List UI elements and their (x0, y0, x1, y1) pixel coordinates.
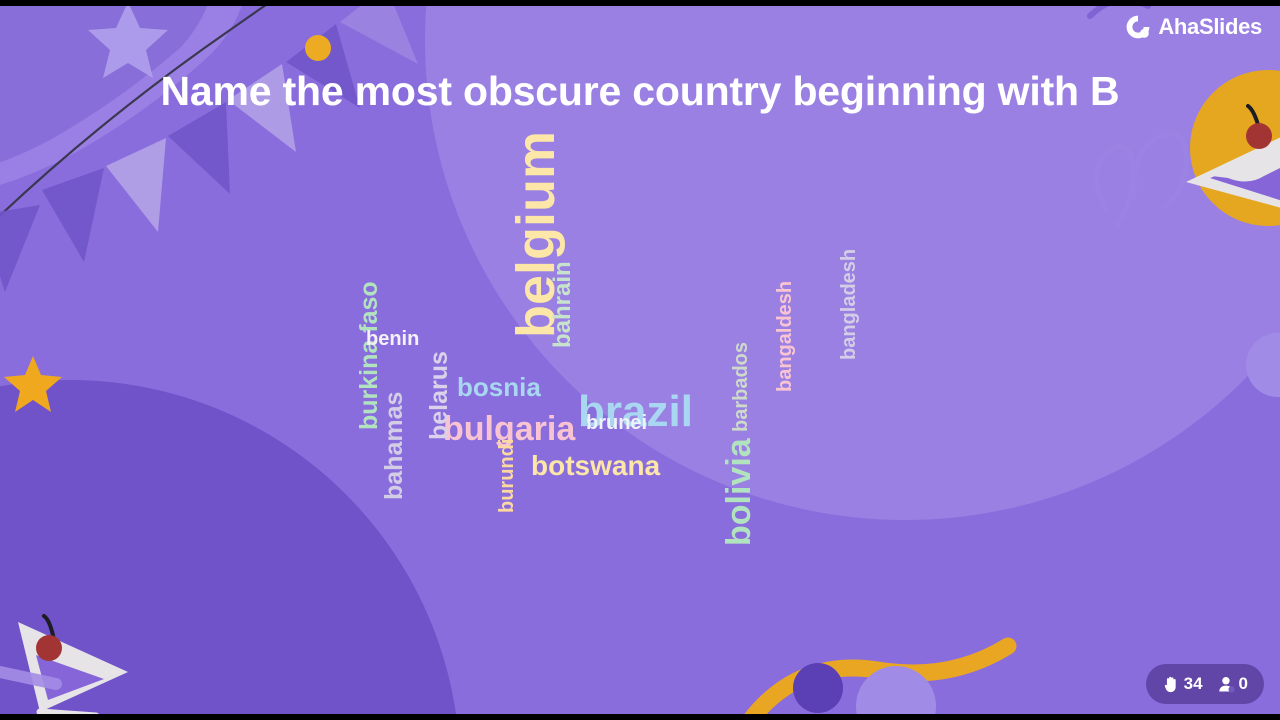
status-badge: 34 0 (1146, 664, 1264, 704)
word-cloud-item: barbados (731, 342, 751, 432)
ahaslides-logo: AhaSlides (1125, 14, 1262, 40)
page-title: Name the most obscure country beginning … (0, 68, 1280, 115)
letterbox-bottom (0, 714, 1280, 720)
word-cloud-item: bangaldesh (775, 281, 795, 392)
word-cloud-item: bahamas (382, 392, 407, 500)
word-cloud-item: brunei (586, 413, 647, 433)
word-cloud-item: bahrain (551, 261, 575, 348)
person-icon (1217, 675, 1236, 694)
participants-count: 0 (1239, 674, 1248, 694)
participants-group: 0 (1217, 674, 1248, 694)
word-cloud-item: belarus (427, 351, 452, 440)
letterbox-top (0, 0, 1280, 6)
slide-stage: AhaSlides Name the most obscure country … (0, 0, 1280, 720)
brand-name: AhaSlides (1158, 14, 1262, 40)
word-cloud-item: bosnia (457, 374, 541, 400)
word-cloud-item: benin (366, 329, 419, 349)
word-cloud-item: burkina faso (357, 281, 382, 430)
word-cloud-item: burundi (497, 439, 517, 513)
word-cloud-item: bolivia (722, 438, 756, 546)
word-cloud-item: bangladesh (839, 249, 859, 360)
responses-group: 34 (1162, 674, 1203, 694)
responses-count: 34 (1184, 674, 1203, 694)
raised-hand-icon (1162, 675, 1181, 694)
word-cloud-item: botswana (531, 452, 660, 480)
ahaslides-logo-icon (1125, 14, 1151, 40)
